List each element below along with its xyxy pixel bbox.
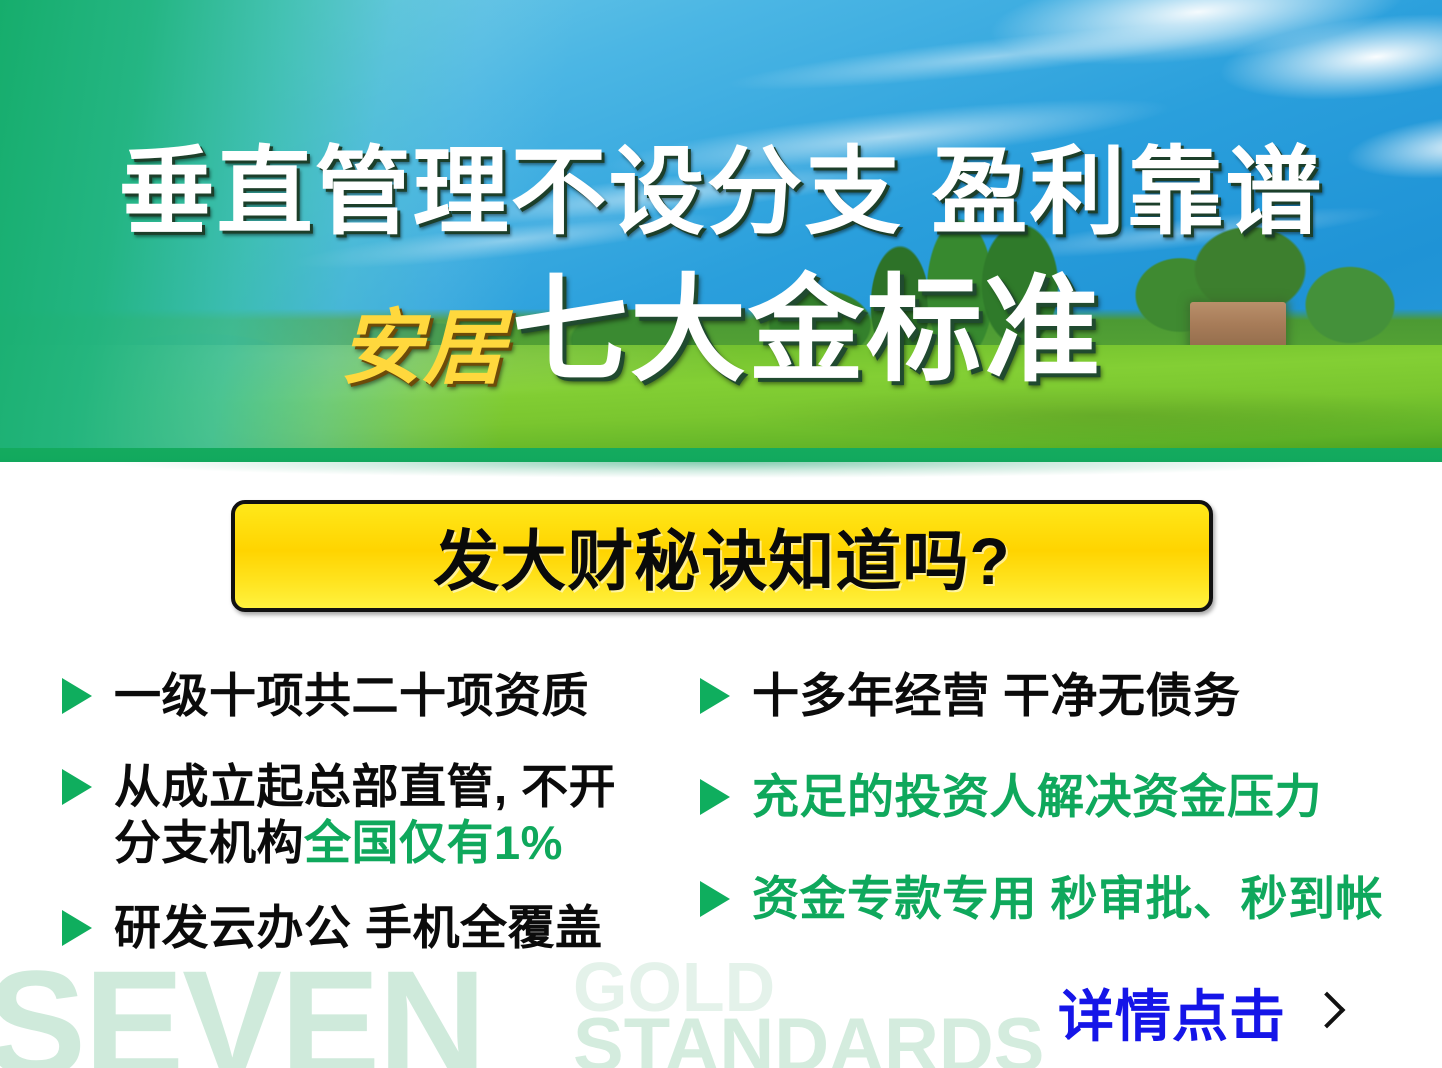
details-link[interactable]: 详情点击 bbox=[1058, 972, 1338, 1053]
triangle-bullet-icon bbox=[62, 769, 92, 805]
triangle-bullet-icon bbox=[700, 881, 730, 917]
hero-subheadline: 安居七大金标准 bbox=[0, 272, 1442, 390]
promo-banner-text: 发大财秘诀知道吗? bbox=[433, 508, 1010, 604]
promo-banner[interactable]: 发大财秘诀知道吗? bbox=[231, 500, 1213, 612]
triangle-bullet-icon bbox=[62, 678, 92, 714]
list-item: 一级十项共二十项资质 bbox=[62, 668, 682, 723]
feature-text: 一级十项共二十项资质 bbox=[114, 668, 589, 723]
triangle-bullet-icon bbox=[700, 779, 730, 815]
list-item: 十多年经营 干净无债务 bbox=[700, 668, 1400, 723]
hero-bottom-band bbox=[0, 448, 1442, 462]
feature-list-right: 十多年经营 干净无债务 充足的投资人解决资金压力 资金专款专用 秒审批、秒到帐 bbox=[700, 668, 1400, 954]
triangle-bullet-icon bbox=[700, 678, 730, 714]
feature-text: 充足的投资人解决资金压力 bbox=[752, 769, 1322, 824]
hero-headline: 垂直管理不设分支 盈利靠谱 bbox=[0, 114, 1442, 253]
hero-brand-text: 安居 bbox=[340, 308, 506, 390]
feature-list-left: 一级十项共二十项资质 从成立起总部直管, 不开分支机构全国仅有1% 研发云办公 … bbox=[62, 668, 682, 984]
feature-text: 十多年经营 干净无债务 bbox=[752, 668, 1241, 723]
feature-text: 资金专款专用 秒审批、秒到帐 bbox=[752, 871, 1383, 926]
hero-drop-shadow bbox=[0, 462, 1442, 480]
list-item: 研发云办公 手机全覆盖 bbox=[62, 900, 682, 955]
triangle-bullet-icon bbox=[62, 910, 92, 946]
feature-text-line2: 分支机构 bbox=[114, 816, 304, 869]
list-item: 充足的投资人解决资金压力 bbox=[700, 769, 1400, 824]
feature-text: 从成立起总部直管, 不开分支机构全国仅有1% bbox=[114, 759, 634, 870]
watermark-standards: STANDARDS bbox=[573, 1008, 1044, 1068]
list-item: 从成立起总部直管, 不开分支机构全国仅有1% bbox=[62, 759, 682, 870]
feature-text-highlight: 全国仅有1% bbox=[304, 816, 563, 869]
feature-text: 研发云办公 手机全覆盖 bbox=[114, 900, 603, 955]
details-link-label: 详情点击 bbox=[1058, 972, 1286, 1053]
chevron-right-icon bbox=[1312, 990, 1338, 1036]
feature-text-line1: 从成立起总部直管, 不开 bbox=[114, 760, 616, 813]
hero-subline-main: 七大金标准 bbox=[512, 272, 1102, 388]
list-item: 资金专款专用 秒审批、秒到帐 bbox=[700, 871, 1400, 926]
